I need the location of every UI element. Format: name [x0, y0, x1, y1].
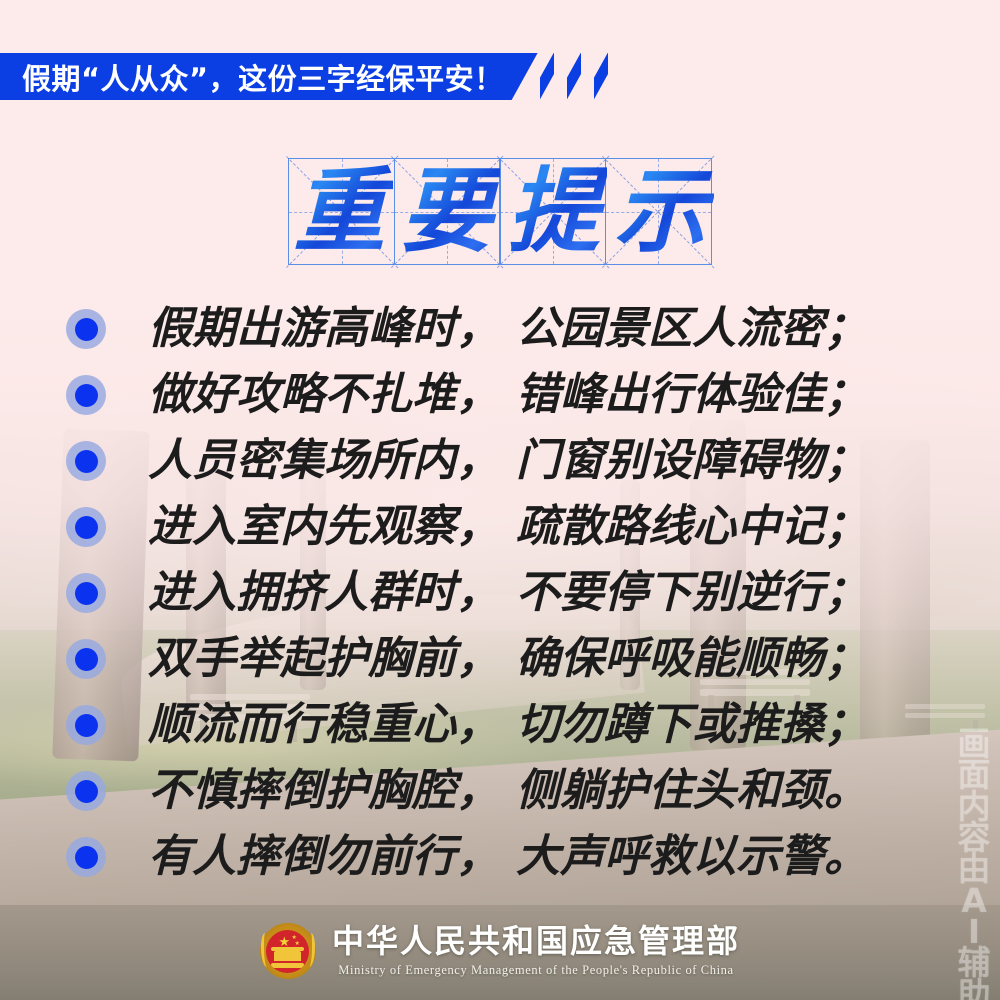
list-item: 有人摔倒勿前行，大声呼救以示警。 — [0, 824, 1000, 890]
header-banner-stripes — [534, 53, 614, 100]
bullet-icon — [66, 705, 106, 745]
title-grid-cell-2 — [394, 158, 501, 265]
list-item-left: 不慎摔倒护胸腔， — [148, 765, 500, 816]
banner-stripe-3 — [594, 53, 608, 100]
list-item: 人员密集场所内，门窗别设障碍物； — [0, 428, 1000, 494]
list-item-left: 人员密集场所内， — [148, 435, 500, 486]
list-item-left: 顺流而行稳重心， — [148, 699, 500, 750]
list-item: 进入室内先观察，疏散路线心中记； — [0, 494, 1000, 560]
bullet-icon — [66, 309, 106, 349]
list-item-left: 做好攻略不扎堆， — [148, 369, 500, 420]
list-item-text: 假期出游高峰时，公园景区人流密； — [148, 307, 868, 351]
list-item-left: 假期出游高峰时， — [148, 303, 500, 354]
header-banner-title: 假期“人从众”，这份三字经保平安！ — [22, 56, 504, 98]
list-item-text: 有人摔倒勿前行，大声呼救以示警。 — [148, 835, 868, 879]
banner-stripe-1 — [540, 53, 554, 100]
title-grid-cell-3 — [499, 158, 606, 265]
list-item: 假期出游高峰时，公园景区人流密； — [0, 296, 1000, 362]
list-item-right: 切勿蹲下或推搡； — [516, 699, 868, 750]
list-item: 做好攻略不扎堆，错峰出行体验佳； — [0, 362, 1000, 428]
list-item-left: 进入拥挤人群时， — [148, 567, 500, 618]
header-banner-body: 假期“人从众”，这份三字经保平安！ — [0, 53, 538, 100]
footer: ★ ★ ★ ★ 中华人民共和国应急管理部 Ministry of Emergen… — [0, 915, 1000, 987]
bullet-icon — [66, 573, 106, 613]
list-item: 不慎摔倒护胸腔，侧躺护住头和颈。 — [0, 758, 1000, 824]
title-grid-cell-4 — [605, 158, 712, 265]
footer-org-name-cn: 中华人民共和国应急管理部 — [332, 924, 740, 959]
tips-list: 假期出游高峰时，公园景区人流密； 做好攻略不扎堆，错峰出行体验佳； 人员密集场所… — [0, 296, 1000, 890]
title-grid-cell-1 — [288, 158, 395, 265]
page-title: 重 要 提 示 — [0, 158, 1000, 265]
list-item-text: 顺流而行稳重心，切勿蹲下或推搡； — [148, 703, 868, 747]
banner-stripe-2 — [567, 53, 581, 100]
list-item-right: 确保呼吸能顺畅； — [516, 633, 868, 684]
title-grid-boxes — [288, 158, 712, 265]
list-item: 顺流而行稳重心，切勿蹲下或推搡； — [0, 692, 1000, 758]
list-item-right: 门窗别设障碍物； — [516, 435, 868, 486]
list-item: 双手举起护胸前，确保呼吸能顺畅； — [0, 626, 1000, 692]
bullet-icon — [66, 507, 106, 547]
list-item-text: 双手举起护胸前，确保呼吸能顺畅； — [148, 637, 868, 681]
list-item-text: 做好攻略不扎堆，错峰出行体验佳； — [148, 373, 868, 417]
header-banner: 假期“人从众”，这份三字经保平安！ — [0, 53, 614, 100]
list-item-text: 不慎摔倒护胸腔，侧躺护住头和颈。 — [148, 769, 868, 813]
bullet-icon — [66, 375, 106, 415]
bullet-icon — [66, 771, 106, 811]
bullet-icon — [66, 441, 106, 481]
list-item-right: 错峰出行体验佳； — [516, 369, 868, 420]
list-item-text: 进入拥挤人群时，不要停下别逆行； — [148, 571, 868, 615]
bullet-icon — [66, 639, 106, 679]
list-item-left: 双手举起护胸前， — [148, 633, 500, 684]
footer-org-name-en: Ministry of Emergency Management of the … — [338, 963, 733, 978]
list-item-left: 有人摔倒勿前行， — [148, 831, 500, 882]
list-item: 进入拥挤人群时，不要停下别逆行； — [0, 560, 1000, 626]
list-item-text: 人员密集场所内，门窗别设障碍物； — [148, 439, 868, 483]
list-item-right: 疏散路线心中记； — [516, 501, 868, 552]
list-item-text: 进入室内先观察，疏散路线心中记； — [148, 505, 868, 549]
national-emblem-icon: ★ ★ ★ ★ — [260, 923, 316, 979]
poster-root: 假期“人从众”，这份三字经保平安！ 重 要 提 示 — [0, 0, 1000, 1000]
list-item-right: 公园景区人流密； — [516, 303, 868, 354]
list-item-right: 大声呼救以示警。 — [516, 831, 868, 882]
footer-text-block: 中华人民共和国应急管理部 Ministry of Emergency Manag… — [332, 924, 740, 978]
bullet-icon — [66, 837, 106, 877]
list-item-right: 不要停下别逆行； — [516, 567, 868, 618]
list-item-right: 侧躺护住头和颈。 — [516, 765, 868, 816]
list-item-left: 进入室内先观察， — [148, 501, 500, 552]
